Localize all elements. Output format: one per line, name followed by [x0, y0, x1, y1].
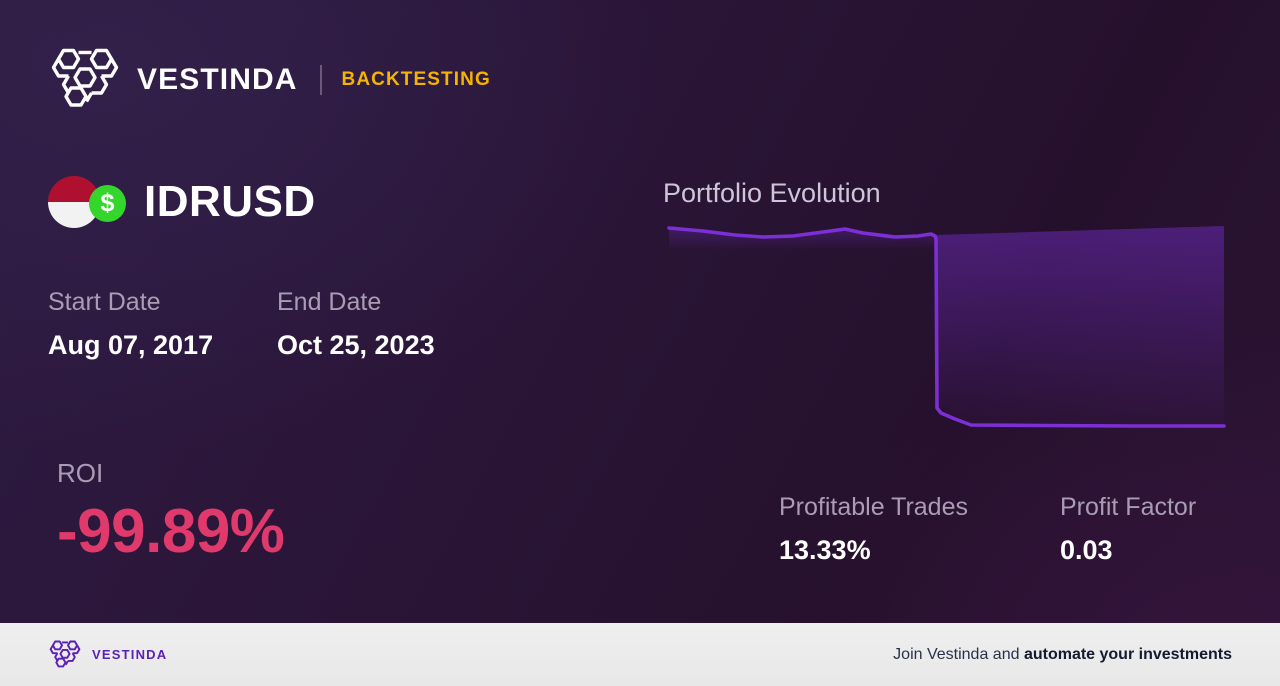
footer-brand-group[interactable]: VESTINDA	[48, 639, 167, 671]
portfolio-evolution-chart	[663, 220, 1229, 432]
roi-block: ROI -99.89%	[57, 458, 284, 563]
chart-area-fill	[935, 226, 1224, 425]
dollar-coin-icon: $	[89, 185, 126, 222]
header-divider	[320, 65, 322, 95]
end-date-value: Oct 25, 2023	[277, 329, 435, 363]
ticker-symbol: IDRUSD	[144, 177, 316, 227]
roi-label: ROI	[57, 458, 284, 489]
profitable-trades-label: Profitable Trades	[779, 491, 1060, 524]
brand-name: VESTINDA	[137, 63, 298, 97]
footer-cta-bold: automate your investments	[1024, 646, 1232, 663]
footer-cta-prefix: Join Vestinda and	[893, 646, 1024, 663]
right-stats: Profitable Trades 13.33% Profit Factor 0…	[779, 491, 1196, 567]
roi-value: -99.89%	[57, 501, 284, 563]
vestinda-hexagon-logo-icon	[48, 639, 82, 671]
date-range: Start Date Aug 07, 2017 End Date Oct 25,…	[48, 286, 435, 362]
profitable-trades-value: 13.33%	[779, 534, 1060, 568]
profitable-trades-block: Profitable Trades 13.33%	[779, 491, 1060, 567]
dollar-symbol: $	[101, 191, 115, 216]
footer-cta: Join Vestinda and automate your investme…	[893, 646, 1232, 664]
end-date-block: End Date Oct 25, 2023	[277, 286, 435, 362]
profit-factor-label: Profit Factor	[1060, 491, 1196, 524]
ticker-row: $ IDRUSD	[48, 176, 316, 228]
pair-icons: $	[48, 176, 126, 228]
start-date-value: Aug 07, 2017	[48, 329, 277, 363]
start-date-label: Start Date	[48, 286, 277, 319]
chart-svg	[663, 220, 1229, 432]
footer-bar: VESTINDA Join Vestinda and automate your…	[0, 623, 1280, 686]
profit-factor-value: 0.03	[1060, 534, 1196, 568]
end-date-label: End Date	[277, 286, 435, 319]
profit-factor-block: Profit Factor 0.03	[1060, 491, 1196, 567]
start-date-block: Start Date Aug 07, 2017	[48, 286, 277, 362]
chart-title: Portfolio Evolution	[663, 178, 881, 209]
backtesting-badge: BACKTESTING	[342, 69, 491, 91]
vestinda-hexagon-logo-icon	[48, 45, 122, 115]
footer-brand-name: VESTINDA	[92, 647, 167, 662]
app-header: VESTINDA BACKTESTING	[48, 45, 491, 115]
